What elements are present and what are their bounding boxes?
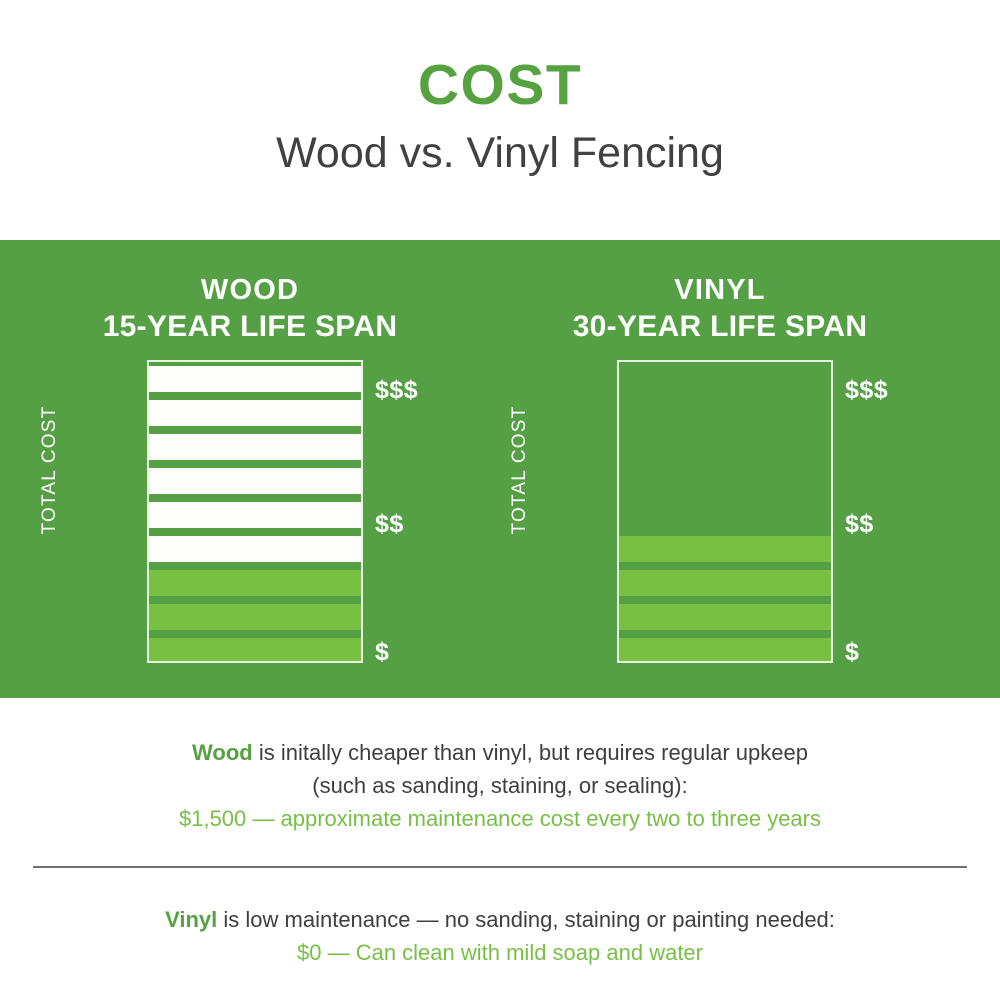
cost-band <box>149 536 361 562</box>
chart-wood-heading-line1: WOOD <box>20 274 480 307</box>
cost-band <box>149 400 361 426</box>
wood-note-line2: (such as sanding, staining, or sealing): <box>312 773 687 798</box>
chart-wood-axis-label: TOTAL COST <box>39 360 61 580</box>
header: COST Wood vs. Vinyl Fencing <box>0 0 1000 240</box>
chart-vinyl-heading-line1: VINYL <box>490 274 950 307</box>
chart-wood-tick-min: $ <box>375 640 389 665</box>
cost-band <box>149 638 361 661</box>
cost-band <box>149 468 361 494</box>
chart-wood-heading: WOOD 15-YEAR LIFE SPAN <box>20 274 480 345</box>
cost-band <box>149 604 361 630</box>
chart-wood-tick-mid: $$ <box>375 512 404 537</box>
vinyl-note: Vinyl is low maintenance — no sanding, s… <box>0 903 1000 969</box>
section-divider <box>33 866 967 868</box>
cost-band <box>619 638 831 661</box>
cost-band <box>619 604 831 630</box>
vinyl-note-cost: $0 — Can clean with mild soap and water <box>0 936 1000 969</box>
chart-vinyl-tick-mid: $$ <box>845 512 874 537</box>
wood-note-emphasis: Wood <box>192 740 253 765</box>
vinyl-note-emphasis: Vinyl <box>165 907 217 932</box>
cost-band <box>619 570 831 596</box>
page-title: COST <box>418 56 582 116</box>
chart-vinyl: VINYL 30-YEAR LIFE SPAN TOTAL COST $$$ $… <box>490 240 950 698</box>
chart-vinyl-tick-min: $ <box>845 640 859 665</box>
cost-band <box>149 502 361 528</box>
cost-band <box>149 434 361 460</box>
page-subtitle: Wood vs. Vinyl Fencing <box>276 130 724 177</box>
infographic-page: COST Wood vs. Vinyl Fencing WOOD 15-YEAR… <box>0 0 1000 1000</box>
wood-note-cost: $1,500 — approximate maintenance cost ev… <box>0 802 1000 835</box>
cost-band <box>149 366 361 392</box>
chart-vinyl-tick-max: $$$ <box>845 378 888 403</box>
chart-vinyl-heading: VINYL 30-YEAR LIFE SPAN <box>490 274 950 345</box>
cost-band <box>149 570 361 596</box>
chart-vinyl-plot-area <box>617 360 833 663</box>
chart-vinyl-heading-line2: 30-YEAR LIFE SPAN <box>490 309 950 344</box>
vinyl-note-line1: is low maintenance — no sanding, stainin… <box>217 907 835 932</box>
chart-wood-plot-area <box>147 360 363 663</box>
chart-wood: WOOD 15-YEAR LIFE SPAN TOTAL COST $$$ $$… <box>20 240 480 698</box>
chart-wood-heading-line2: 15-YEAR LIFE SPAN <box>20 309 480 344</box>
wood-note-line1: is initally cheaper than vinyl, but requ… <box>253 740 808 765</box>
wood-note: Wood is initally cheaper than vinyl, but… <box>0 736 1000 835</box>
chart-wood-tick-max: $$$ <box>375 378 418 403</box>
chart-vinyl-axis-label: TOTAL COST <box>509 360 531 580</box>
cost-band <box>619 536 831 562</box>
chart-panel: WOOD 15-YEAR LIFE SPAN TOTAL COST $$$ $$… <box>0 240 1000 698</box>
